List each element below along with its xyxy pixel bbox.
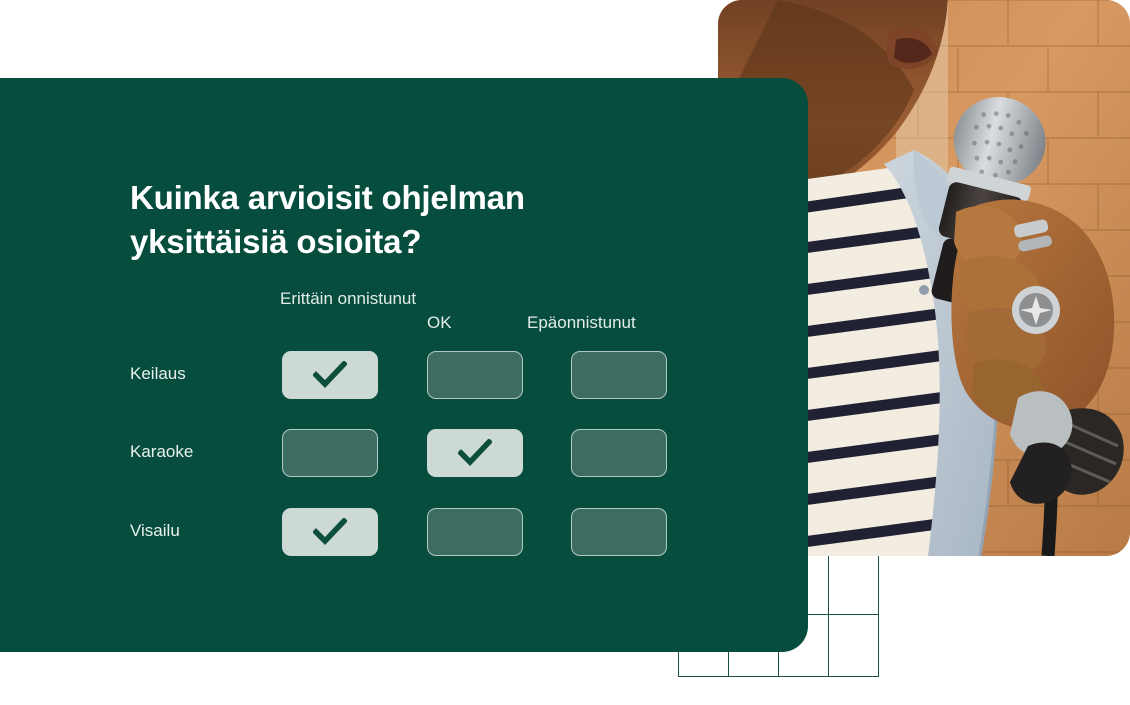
column-header-erittain-onnistunut: Erittäin onnistunut xyxy=(280,287,430,311)
option-visailu-erittain-onnistunut[interactable] xyxy=(282,508,378,556)
check-icon xyxy=(458,439,492,467)
option-karaoke-ok[interactable] xyxy=(427,429,523,477)
page-title: Kuinka arvioisit ohjelman yksittäisiä os… xyxy=(130,176,600,264)
option-karaoke-erittain-onnistunut[interactable] xyxy=(282,429,378,477)
option-visailu-ok[interactable] xyxy=(427,508,523,556)
option-keilaus-erittain-onnistunut[interactable] xyxy=(282,351,378,399)
check-icon xyxy=(313,361,347,389)
option-karaoke-epaonnistunut[interactable] xyxy=(571,429,667,477)
row-label-keilaus: Keilaus xyxy=(130,363,280,385)
option-keilaus-ok[interactable] xyxy=(427,351,523,399)
row-label-visailu: Visailu xyxy=(130,520,280,542)
option-keilaus-epaonnistunut[interactable] xyxy=(571,351,667,399)
column-header-epaonnistunut: Epäonnistunut xyxy=(527,311,727,335)
survey-card: Kuinka arvioisit ohjelman yksittäisiä os… xyxy=(0,78,808,652)
option-visailu-epaonnistunut[interactable] xyxy=(571,508,667,556)
row-label-karaoke: Karaoke xyxy=(130,441,280,463)
check-icon xyxy=(313,518,347,546)
